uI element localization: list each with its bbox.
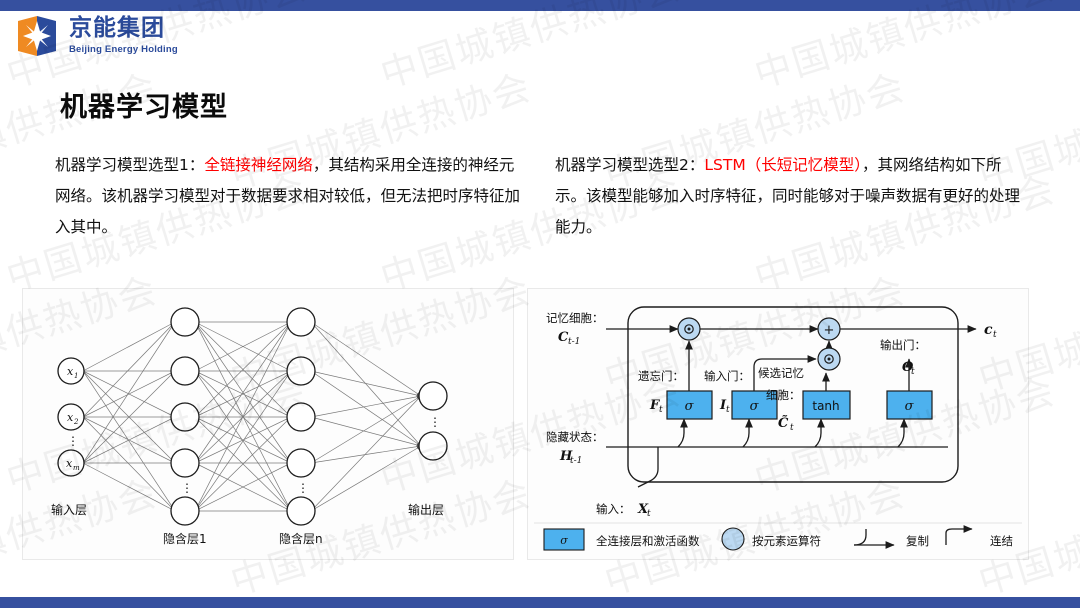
lstm-label-candidate-1: 候选记忆	[758, 366, 804, 380]
left-paragraph-highlight: 全链接神经网络	[204, 156, 313, 174]
nn-input-layer: x 1 x 2 x m ⋮	[58, 358, 84, 476]
svg-text:2: 2	[73, 418, 79, 426]
lstm-label-candidate-2: 细胞：	[766, 388, 801, 402]
lstm-label-memory-cell-sub: t-1	[568, 337, 580, 347]
right-paragraph-prefix: 机器学习模型选型2：	[555, 156, 704, 174]
left-paragraph-prefix: 机器学习模型选型1：	[55, 156, 204, 174]
lstm-op-add: +	[818, 318, 840, 340]
left-paragraph: 机器学习模型选型1：全链接神经网络，其结构采用全连接的神经元网络。该机器学习模型…	[55, 150, 525, 243]
lstm-label-input-gate-sub: t	[726, 405, 730, 415]
slide-root: 京能集团 Beijing Energy Holding 机器学习模型 机器学习模…	[0, 0, 1080, 608]
svg-text:⋮: ⋮	[67, 434, 79, 448]
figure-neural-network: x 1 x 2 x m ⋮ ⋮ ⋮	[22, 288, 514, 560]
logo-cube-icon	[14, 13, 60, 59]
svg-text:1: 1	[74, 372, 78, 380]
legend-label-elementwise: 按元素运算符	[752, 534, 821, 548]
lstm-add-symbol: +	[824, 323, 835, 338]
lstm-label-input-sub: t	[647, 509, 651, 519]
lstm-diagram: + σ σ tanh σ	[528, 289, 1028, 559]
lstm-label-output-gate: 输出门：	[880, 338, 926, 352]
lstm-op-multiply-2	[818, 348, 840, 370]
lstm-forget-sigma: σ	[685, 399, 695, 414]
watermark-text: 中国城镇供热协会	[747, 0, 1061, 98]
nn-hidden1-ellipsis: ⋮	[181, 481, 193, 495]
lstm-label-out-c: c	[984, 322, 993, 338]
svg-text:x: x	[67, 365, 74, 378]
bottom-brand-bar	[0, 597, 1080, 608]
top-brand-bar	[0, 0, 1080, 11]
nn-diagram: x 1 x 2 x m ⋮ ⋮ ⋮	[23, 289, 513, 559]
lstm-label-input: 输入：	[596, 502, 631, 516]
legend-label-copy: 复制	[906, 534, 929, 548]
concat-arrow-icon	[946, 529, 972, 545]
lstm-op-multiply-1	[678, 318, 700, 340]
nn-caption-hidden1: 隐含层1	[163, 531, 207, 546]
legend-item-elementwise: 按元素运算符	[722, 528, 821, 550]
nn-caption-output: 输出层	[408, 502, 444, 517]
svg-text:x: x	[67, 411, 74, 424]
lstm-label-hidden-state: 隐藏状态：	[546, 430, 604, 444]
lstm-label-candidate-sub: t	[790, 423, 794, 433]
watermark-text: 中国城镇供热协会	[373, 0, 687, 98]
lstm-label-out-c-sub: t	[993, 330, 997, 340]
lstm-output-sigma: σ	[905, 399, 915, 414]
lstm-label-hidden-state-sub: t-1	[570, 456, 582, 466]
lstm-label-input-gate: 输入门：	[704, 369, 750, 383]
lstm-label-memory-cell: 记忆细胞：	[546, 311, 604, 325]
lstm-input-sigma: σ	[750, 399, 760, 414]
lstm-gate-output: σ	[887, 391, 932, 419]
legend-sigma-symbol: σ	[560, 534, 568, 547]
circle-operator-icon	[722, 528, 744, 550]
svg-text:m: m	[73, 464, 80, 472]
lstm-gate-candidate: tanh	[803, 391, 850, 419]
copy-arrow-icon	[854, 529, 866, 545]
legend-label-concat: 连结	[990, 534, 1013, 548]
lstm-label-forget-gate: 遗忘门：	[638, 369, 684, 383]
lstm-gate-forget: σ	[667, 391, 712, 419]
lstm-legend: σ 全连接层和激活函数 按元素运算符 复制 连结	[544, 528, 1013, 550]
nn-output-ellipsis: ⋮	[429, 415, 441, 429]
company-logo: 京能集团 Beijing Energy Holding	[14, 13, 178, 59]
logo-text-en: Beijing Energy Holding	[69, 45, 178, 55]
nn-caption-hiddenn: 隐含层n	[279, 531, 323, 546]
right-paragraph: 机器学习模型选型2：LSTM（长短记忆模型），其网络结构如下所示。该模型能够加入…	[555, 150, 1025, 243]
svg-text:x: x	[66, 457, 73, 470]
page-title: 机器学习模型	[60, 85, 228, 124]
lstm-label-output-gate-sub: t	[911, 367, 915, 377]
legend-item-concat: 连结	[946, 529, 1013, 548]
legend-item-fc-activation: σ 全连接层和激活函数	[544, 529, 700, 550]
right-paragraph-highlight: LSTM（长短记忆模型）	[704, 156, 862, 174]
legend-item-copy: 复制	[854, 529, 929, 548]
lstm-label-candidate-var: C̃	[778, 415, 789, 431]
nn-hiddenn-ellipsis: ⋮	[297, 481, 309, 495]
figure-lstm: + σ σ tanh σ	[527, 288, 1029, 560]
lstm-label-forget-sub: t	[659, 405, 663, 415]
lstm-tanh-label: tanh	[812, 399, 839, 413]
nn-caption-input: 输入层	[51, 502, 87, 517]
logo-text-cn: 京能集团	[69, 17, 178, 40]
legend-label-fc-activation: 全连接层和激活函数	[596, 534, 700, 548]
